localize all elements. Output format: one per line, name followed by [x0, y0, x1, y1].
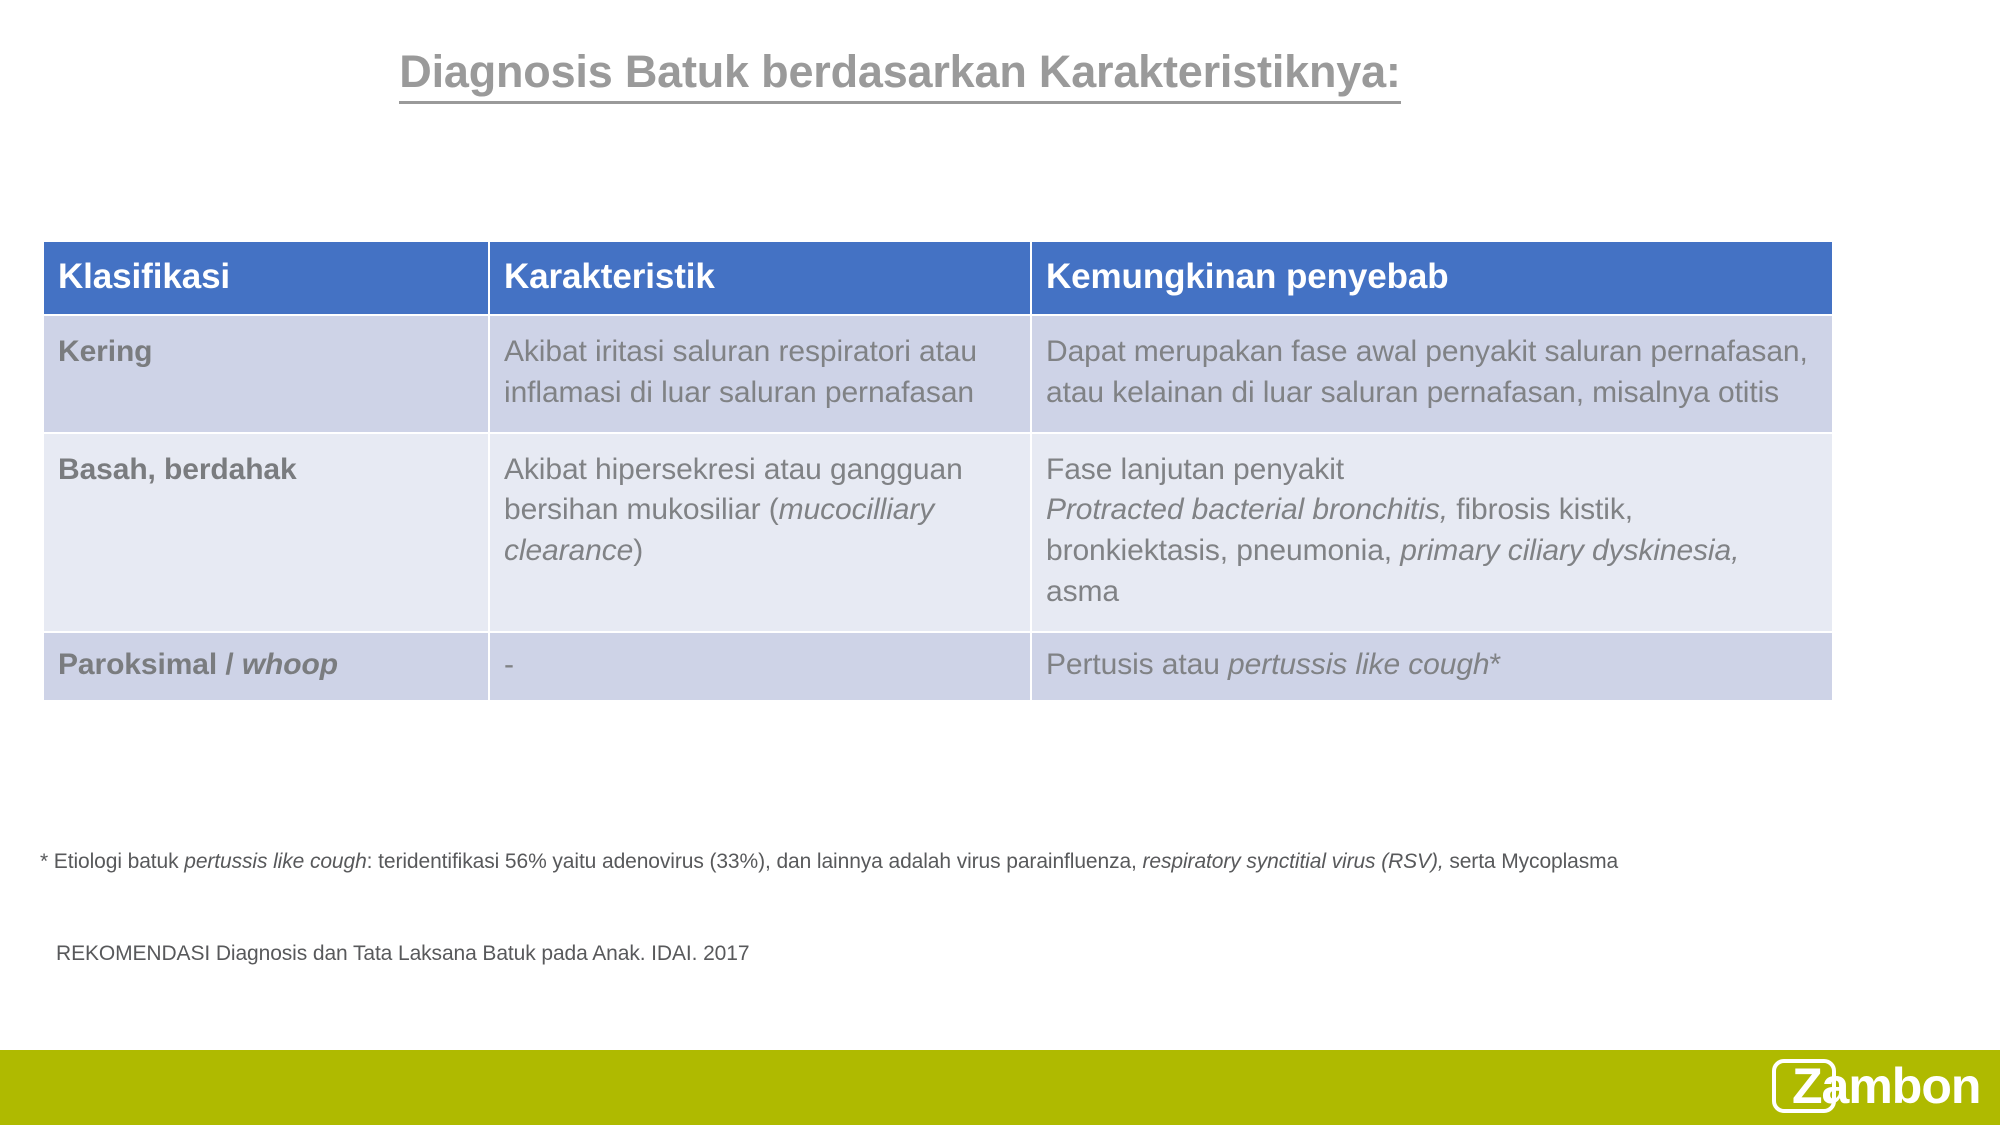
cell-klasifikasi-basah: Basah, berdahak: [44, 434, 488, 631]
cell-karakteristik-kering: Akibat iritasi saluran respiratori atau …: [490, 316, 1030, 432]
penyebab-paroksimal-pre: Pertusis atau: [1046, 648, 1228, 681]
penyebab-basah-italic-2: primary ciliary dyskinesia,: [1400, 534, 1739, 567]
footer-bar: Zambon: [0, 1050, 2000, 1125]
klasifikasi-paroksimal-italic: whoop: [242, 648, 338, 681]
page-title-text: Diagnosis Batuk berdasarkan Karakteristi…: [399, 46, 1400, 104]
column-header-klasifikasi: Klasifikasi: [44, 242, 488, 314]
penyebab-paroksimal-post: *: [1490, 648, 1502, 681]
cell-penyebab-basah: Fase lanjutan penyakitProtracted bacteri…: [1032, 434, 1832, 631]
table-row: Kering Akibat iritasi saluran respirator…: [44, 316, 1832, 432]
penyebab-basah-post: asma: [1046, 575, 1119, 608]
penyebab-paroksimal-italic: pertussis like cough: [1228, 648, 1489, 681]
slide-root: { "slide": { "title": "Diagnosis Batuk b…: [0, 0, 2000, 1125]
footnote: * Etiologi batuk pertussis like cough: t…: [40, 850, 1940, 874]
footnote-italic-1: pertussis like cough: [184, 850, 366, 873]
klasifikasi-paroksimal-pre: Paroksimal /: [58, 648, 242, 681]
page-title: Diagnosis Batuk berdasarkan Karakteristi…: [0, 46, 1800, 98]
footnote-post: serta Mycoplasma: [1444, 850, 1619, 873]
footnote-pre: * Etiologi batuk: [40, 850, 184, 873]
penyebab-basah-italic-1: Protracted bacterial bronchitis,: [1046, 493, 1448, 526]
table-header-row: Klasifikasi Karakteristik Kemungkinan pe…: [44, 242, 1832, 314]
table-body: Kering Akibat iritasi saluran respirator…: [44, 316, 1832, 700]
footnote-mid: : teridentifikasi 56% yaitu adenovirus (…: [367, 850, 1143, 873]
cell-karakteristik-basah: Akibat hipersekresi atau gangguan bersih…: [490, 434, 1030, 631]
karakteristik-basah-post: ): [633, 534, 643, 567]
source-citation: REKOMENDASI Diagnosis dan Tata Laksana B…: [56, 942, 1456, 966]
cell-penyebab-paroksimal: Pertusis atau pertussis like cough*: [1032, 633, 1832, 700]
cell-penyebab-kering: Dapat merupakan fase awal penyakit salur…: [1032, 316, 1832, 432]
column-header-karakteristik: Karakteristik: [490, 242, 1030, 314]
table-row: Paroksimal / whoop - Pertusis atau pertu…: [44, 633, 1832, 700]
penyebab-basah-line1: Fase lanjutan penyakit: [1046, 453, 1344, 486]
column-header-kemungkinan-penyebab: Kemungkinan penyebab: [1032, 242, 1832, 314]
cell-klasifikasi-kering: Kering: [44, 316, 488, 432]
cell-karakteristik-paroksimal: -: [490, 633, 1030, 700]
table-row: Basah, berdahak Akibat hipersekresi atau…: [44, 434, 1832, 631]
diagnosis-table-container: Klasifikasi Karakteristik Kemungkinan pe…: [42, 240, 1832, 702]
zambon-logo-text: Zambon: [1792, 1059, 1980, 1113]
table-header: Klasifikasi Karakteristik Kemungkinan pe…: [44, 242, 1832, 314]
zambon-logo: Zambon: [1726, 1053, 1976, 1119]
footnote-italic-2: respiratory synctitial virus (RSV),: [1143, 850, 1444, 873]
diagnosis-table: Klasifikasi Karakteristik Kemungkinan pe…: [42, 240, 1834, 702]
cell-klasifikasi-paroksimal: Paroksimal / whoop: [44, 633, 488, 700]
